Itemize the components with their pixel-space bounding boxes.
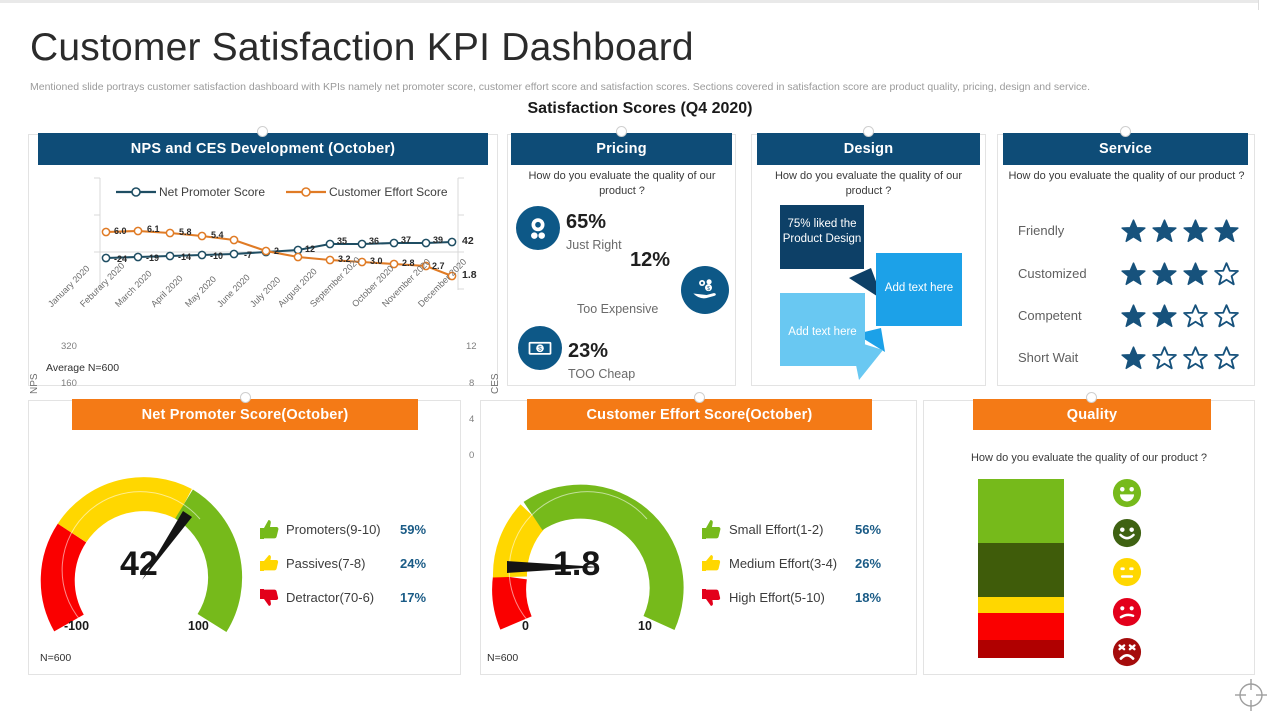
star-icon-empty xyxy=(1213,261,1240,287)
connector-dot-ces-gauge xyxy=(694,392,705,403)
hand-coins-icon: $ xyxy=(681,266,729,314)
ces-gauge-note: N=600 xyxy=(487,652,518,664)
pricing-value-0: 65% xyxy=(566,211,606,234)
quality-segment-1 xyxy=(978,543,1064,597)
ces-legend-pct-1: 26% xyxy=(855,556,881,571)
legend-nps: Net Promoter Score xyxy=(159,185,265,199)
service-label-3: Short Wait xyxy=(1018,350,1078,365)
top-right-corner-mark xyxy=(1258,0,1280,10)
star-icon xyxy=(1151,218,1178,244)
quality-stacked-bar xyxy=(978,479,1064,658)
star-icon xyxy=(1182,261,1209,287)
star-icon-empty xyxy=(1182,345,1209,371)
section-title: Satisfaction Scores (Q4 2020) xyxy=(0,100,1280,118)
y2-tick-3: 0 xyxy=(469,450,474,461)
pricing-banner: Pricing xyxy=(511,133,732,165)
slide-root: Customer Satisfaction KPI Dashboard Ment… xyxy=(0,0,1280,720)
star-icon xyxy=(1120,303,1147,329)
pricing-label-1: Too Expensive xyxy=(577,302,658,316)
legend-ces: Customer Effort Score xyxy=(329,185,448,199)
service-label-1: Customized xyxy=(1018,266,1087,281)
ces-gauge-value: 1.8 xyxy=(553,545,600,584)
connector-dot-quality xyxy=(1086,392,1097,403)
chart-svg xyxy=(28,166,498,386)
service-banner: Service xyxy=(1003,133,1248,165)
nps-label-9: 37 xyxy=(401,235,411,245)
design-bubble-text-1: Add text here xyxy=(876,281,962,296)
ces-label-1: 6.1 xyxy=(147,224,160,234)
pricing-label-2: TOO Cheap xyxy=(568,367,635,381)
thumbs-up-icon xyxy=(698,518,724,542)
design-bubble-text-2: Add text here xyxy=(780,325,865,340)
design-bubble-1: Add text here xyxy=(876,253,962,326)
ces-legend-pct-2: 18% xyxy=(855,590,881,605)
nps-ces-title: NPS and CES Development (October) xyxy=(131,141,395,157)
svg-text:$: $ xyxy=(707,286,710,292)
nps-label-1: -19 xyxy=(146,253,159,263)
star-icon xyxy=(1120,261,1147,287)
nps-legend-label-1: Passives(7-8) xyxy=(286,556,365,571)
nps-label-3: -10 xyxy=(210,251,223,261)
pricing-label-0: Just Right xyxy=(566,238,622,252)
connector-dot-pricing xyxy=(616,126,627,137)
design-bubble-0: 75% liked the Product Design xyxy=(780,205,864,269)
star-icon-empty xyxy=(1213,303,1240,329)
nps-legend-label-0: Promoters(9-10) xyxy=(286,522,381,537)
thumbs-side-icon xyxy=(698,552,724,576)
design-banner: Design xyxy=(757,133,980,165)
nps-gauge-title: Net Promoter Score(October) xyxy=(142,407,349,423)
nps-gauge-banner: Net Promoter Score(October) xyxy=(72,399,418,430)
face-very-happy-icon xyxy=(1112,478,1142,508)
quality-segment-0 xyxy=(978,479,1064,543)
thumbs-down-icon xyxy=(698,586,724,610)
connector-dot-chart xyxy=(257,126,268,137)
pricing-title: Pricing xyxy=(596,141,647,157)
nps-label-8: 36 xyxy=(369,236,379,246)
face-sad-icon xyxy=(1112,597,1142,627)
connector-dot-nps-gauge xyxy=(240,392,251,403)
star-icon xyxy=(1151,261,1178,287)
svg-text:$: $ xyxy=(538,345,542,352)
ces-legend-label-2: High Effort(5-10) xyxy=(729,590,825,605)
service-stars-2 xyxy=(1120,303,1240,329)
ces-label-11: 1.8 xyxy=(462,269,477,281)
service-stars-0 xyxy=(1120,218,1240,244)
quality-banner: Quality xyxy=(973,399,1211,430)
star-icon-empty xyxy=(1151,345,1178,371)
nps-legend-pct-2: 17% xyxy=(400,590,426,605)
nps-gauge-note: N=600 xyxy=(40,652,71,664)
ces-gauge-banner: Customer Effort Score(October) xyxy=(527,399,872,430)
service-stars-1 xyxy=(1120,261,1240,287)
face-very-sad-icon xyxy=(1112,637,1142,667)
ces-label-3: 5.4 xyxy=(211,230,224,240)
quality-segment-4 xyxy=(978,640,1064,658)
nps-legend-pct-0: 59% xyxy=(400,522,426,537)
pricing-value-1: 12% xyxy=(630,249,670,272)
page-subtitle: Mentioned slide portrays customer satisf… xyxy=(30,80,1255,94)
service-label-0: Friendly xyxy=(1018,223,1064,238)
ces-label-2: 5.8 xyxy=(179,227,192,237)
ces-gauge-title: Customer Effort Score(October) xyxy=(587,407,813,423)
service-label-2: Competent xyxy=(1018,308,1082,323)
star-icon xyxy=(1213,218,1240,244)
connector-dot-design xyxy=(863,126,874,137)
face-happy-icon xyxy=(1112,518,1142,548)
connector-dot-service xyxy=(1120,126,1131,137)
crosshair-icon[interactable] xyxy=(1232,676,1270,714)
star-icon-empty xyxy=(1182,303,1209,329)
banknote-icon: $ xyxy=(518,326,562,370)
quality-segment-3 xyxy=(978,613,1064,640)
ces-label-10: 2.7 xyxy=(432,261,445,271)
nps-legend-pct-1: 24% xyxy=(400,556,426,571)
nps-gauge-min: -100 xyxy=(64,619,89,633)
star-icon xyxy=(1151,303,1178,329)
pricing-value-2: 23% xyxy=(568,340,608,363)
chart-footnote: Average N=600 xyxy=(46,362,119,374)
ces-legend-label-1: Medium Effort(3-4) xyxy=(729,556,837,571)
face-neutral-icon xyxy=(1112,557,1142,587)
ces-gauge-min: 0 xyxy=(522,619,529,633)
nps-gauge-max: 100 xyxy=(188,619,209,633)
ces-gauge-dial xyxy=(487,455,717,645)
star-icon-empty xyxy=(1213,345,1240,371)
nps-label-6: 12 xyxy=(305,244,315,254)
nps-ces-banner: NPS and CES Development (October) xyxy=(38,133,488,165)
thumbs-side-icon xyxy=(256,552,282,576)
award-icon xyxy=(516,206,560,250)
ces-legend-label-0: Small Effort(1-2) xyxy=(729,522,823,537)
ces-label-9: 2.8 xyxy=(402,258,415,268)
nps-label-2: -14 xyxy=(178,252,191,262)
thumbs-up-icon xyxy=(256,518,282,542)
design-bubble-text-0: 75% liked the Product Design xyxy=(780,217,864,247)
service-stars-3 xyxy=(1120,345,1240,371)
ces-legend-pct-0: 56% xyxy=(855,522,881,537)
nps-gauge-value: 42 xyxy=(120,545,158,584)
quality-card xyxy=(923,400,1255,675)
nps-ces-chart: 320 160 0 -160 12 8 4 0 NPS CES xyxy=(28,166,498,386)
ces-label-0: 6.0 xyxy=(114,226,127,236)
nps-label-7: 35 xyxy=(337,236,347,246)
ces-gauge-max: 10 xyxy=(638,619,652,633)
pricing-question: How do you evaluate the quality of our p… xyxy=(517,169,727,199)
nps-label-11: 42 xyxy=(462,235,474,247)
nps-label-10: 39 xyxy=(433,235,443,245)
nps-label-4: -7 xyxy=(244,250,252,260)
nps-legend-label-2: Detractor(70-6) xyxy=(286,590,374,605)
thumbs-down-icon xyxy=(256,586,282,610)
y2-tick-2: 4 xyxy=(469,414,474,425)
star-icon xyxy=(1120,218,1147,244)
design-bubble-2: Add text here xyxy=(780,293,865,366)
star-icon xyxy=(1182,218,1209,244)
top-divider xyxy=(0,0,1280,3)
ces-label-8: 3.0 xyxy=(370,256,383,266)
page-title: Customer Satisfaction KPI Dashboard xyxy=(30,24,694,72)
quality-title: Quality xyxy=(1067,407,1118,423)
service-title: Service xyxy=(1099,141,1152,157)
quality-segment-2 xyxy=(978,597,1064,613)
service-question: How do you evaluate the quality of our p… xyxy=(1008,169,1245,184)
quality-question: How do you evaluate the quality of our p… xyxy=(933,451,1245,466)
nps-label-5: 2 xyxy=(274,246,279,256)
design-title: Design xyxy=(844,141,894,157)
star-icon xyxy=(1120,345,1147,371)
